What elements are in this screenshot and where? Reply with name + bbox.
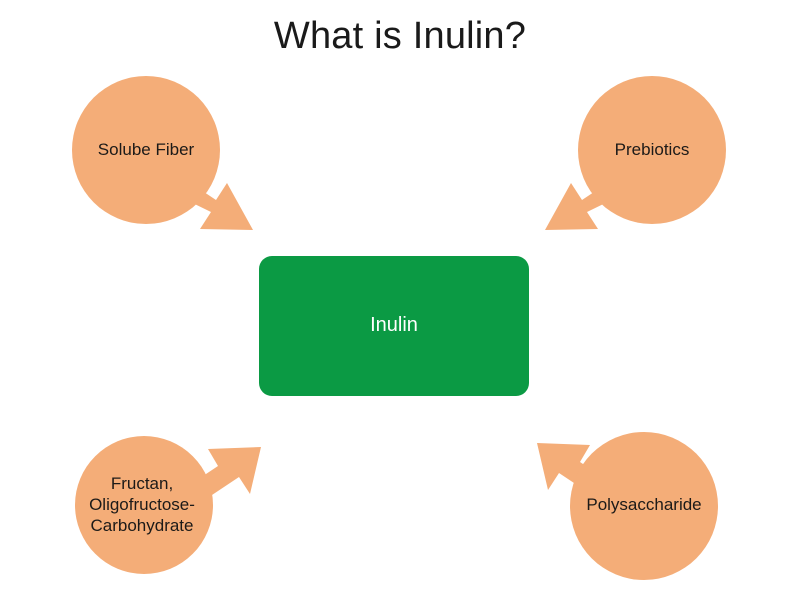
node-solube-fiber[interactable] xyxy=(72,76,253,230)
slide-canvas: What is Inulin? Solube Fiber Prebiotics … xyxy=(0,0,800,600)
center-node-inulin[interactable]: Inulin xyxy=(259,256,529,396)
node-polysaccharide[interactable] xyxy=(537,432,718,580)
node-prebiotics[interactable] xyxy=(545,76,726,230)
circle-shape xyxy=(570,432,718,580)
circle-shape xyxy=(578,76,726,224)
center-node-label: Inulin xyxy=(259,312,529,338)
circle-shape xyxy=(75,436,213,574)
node-fructan-oligofructose-carbohydrate[interactable] xyxy=(75,436,261,574)
circle-shape xyxy=(72,76,220,224)
